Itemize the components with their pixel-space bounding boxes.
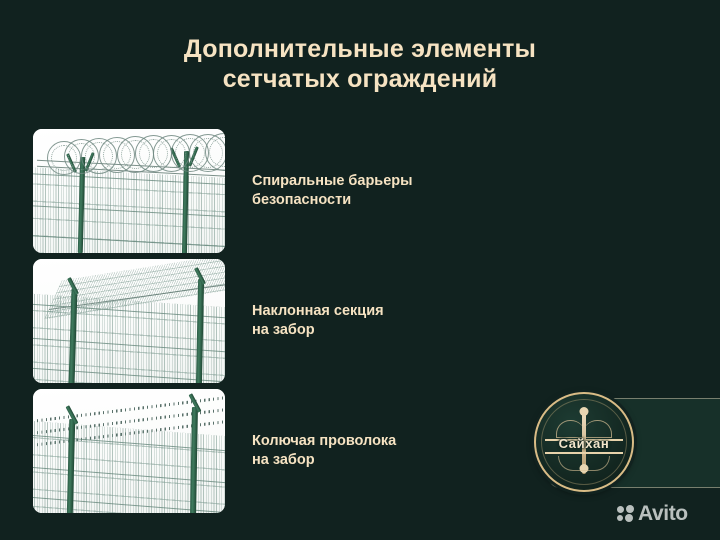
caption-line-1: Колючая проволока [252, 432, 502, 451]
caption-line-2: безопасности [252, 191, 502, 210]
product-image-card-inclined-section [33, 259, 225, 383]
page-title: Дополнительные элементы сетчатых огражде… [60, 34, 660, 94]
product-image-card-spiral-barrier [33, 129, 225, 253]
avito-dots-icon [617, 505, 634, 522]
product-image-card-barbed-wire [33, 389, 225, 513]
page-title-line-1: Дополнительные элементы [60, 34, 660, 64]
caption-line-1: Спиральные барьеры [252, 172, 502, 191]
brand-name: Сайхан [536, 436, 632, 451]
barbed-wire-on-fence-photo [33, 389, 225, 513]
avito-wordmark: Avito [638, 503, 688, 524]
caption-line-2: на забор [252, 321, 502, 340]
product-caption-barbed-wire: Колючая проволока на забор [252, 432, 502, 470]
advertisement-image: Дополнительные элементы сетчатых огражде… [0, 0, 720, 540]
badge-bar-bottom [545, 452, 623, 454]
badge-ornament-bead-icon [580, 407, 589, 416]
spiral-razor-wire-barrier-photo [33, 129, 225, 253]
badge-ornament-arc-icon [558, 456, 610, 471]
brand-badge: Сайхан [534, 392, 634, 492]
product-caption-inclined-section: Наклонная секция на забор [252, 302, 502, 340]
avito-watermark: Avito [617, 503, 688, 524]
product-caption-spiral-barrier: Спиральные барьеры безопасности [252, 172, 502, 210]
inclined-mesh-section-photo [33, 259, 225, 383]
caption-line-1: Наклонная секция [252, 302, 502, 321]
page-title-line-2: сетчатых ограждений [60, 64, 660, 94]
caption-line-2: на забор [252, 451, 502, 470]
